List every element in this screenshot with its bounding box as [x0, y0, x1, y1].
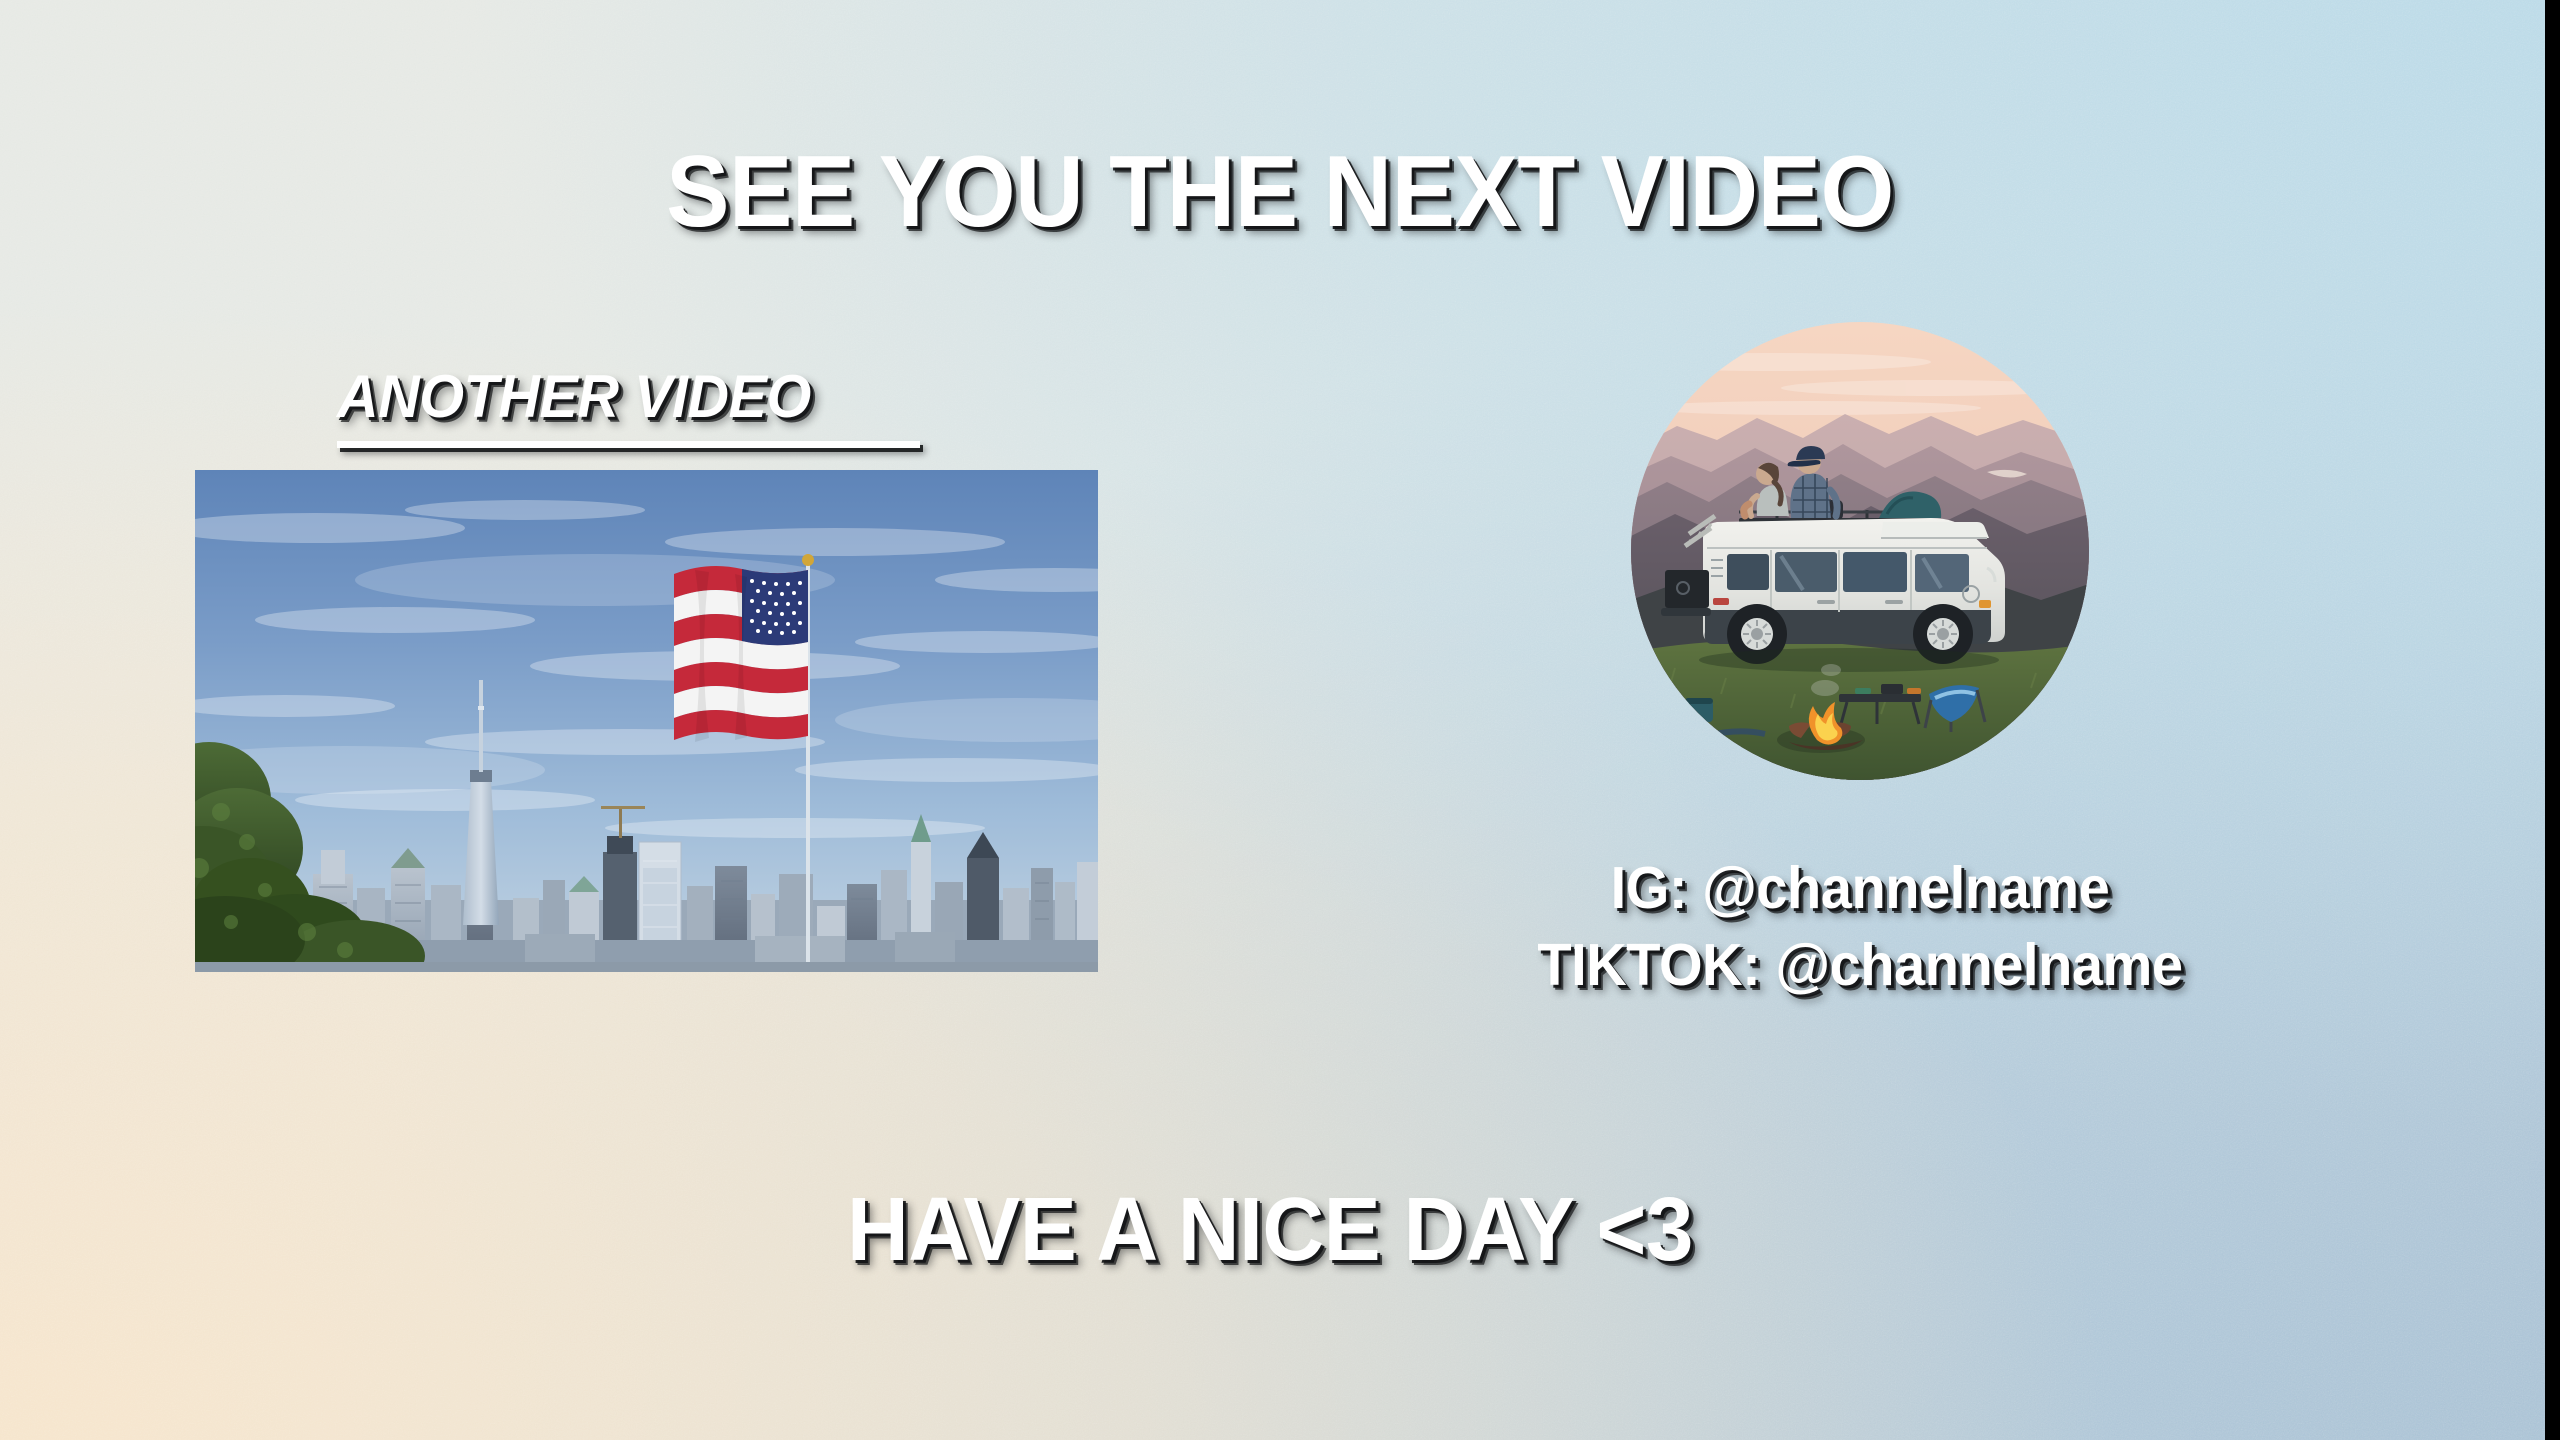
tiktok-handle[interactable]: TIKTOK: @channelname [1423, 927, 2297, 1004]
avatar[interactable] [1631, 322, 2089, 780]
another-video-block[interactable]: ANOTHER VIDEO [337, 367, 831, 427]
page-title: SEE YOU THE NEXT VIDEO [77, 142, 2483, 243]
another-video-underline [337, 441, 920, 448]
another-video-thumbnail[interactable] [195, 470, 1098, 972]
right-letterbox-bar [2545, 0, 2560, 1440]
footer-message: HAVE A NICE DAY <3 [64, 1185, 2477, 1275]
outro-slide: SEE YOU THE NEXT VIDEO ANOTHER VIDEO [0, 0, 2560, 1440]
instagram-handle[interactable]: IG: @channelname [1423, 850, 2297, 927]
social-handles: IG: @channelname TIKTOK: @channelname [1400, 850, 2320, 1003]
another-video-label[interactable]: ANOTHER VIDEO [337, 367, 811, 427]
